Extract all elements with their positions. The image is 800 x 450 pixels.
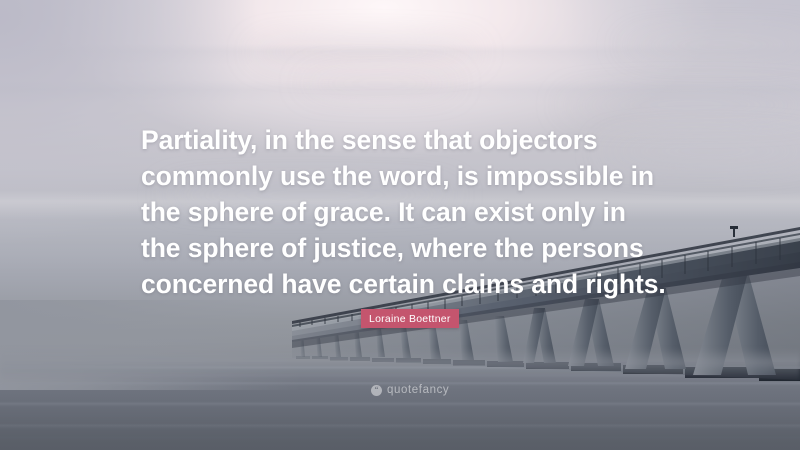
watermark-brand: quotefancy bbox=[387, 384, 449, 396]
quote-mark-icon: “ bbox=[371, 385, 382, 396]
author-name: Loraine Boettner bbox=[369, 313, 451, 325]
author-badge: Loraine Boettner bbox=[361, 309, 459, 328]
quote-line: the sphere of grace. It can exist only i… bbox=[141, 194, 667, 230]
quote-text: Partiality, in the sense that objectors … bbox=[141, 122, 667, 302]
quote-line: commonly use the word, is impossible in bbox=[141, 158, 667, 194]
quote-line: concerned have certain claims and rights… bbox=[141, 266, 667, 302]
quote-image-canvas: Partiality, in the sense that objectors … bbox=[0, 0, 800, 450]
cloud-wisp bbox=[250, 44, 480, 60]
horizon-haze bbox=[0, 348, 800, 382]
watermark: “ quotefancy bbox=[371, 384, 449, 396]
cloud-wisp bbox=[300, 78, 460, 89]
quote-line: the sphere of justice, where the persons bbox=[141, 230, 667, 266]
quote-line: Partiality, in the sense that objectors bbox=[141, 122, 667, 158]
